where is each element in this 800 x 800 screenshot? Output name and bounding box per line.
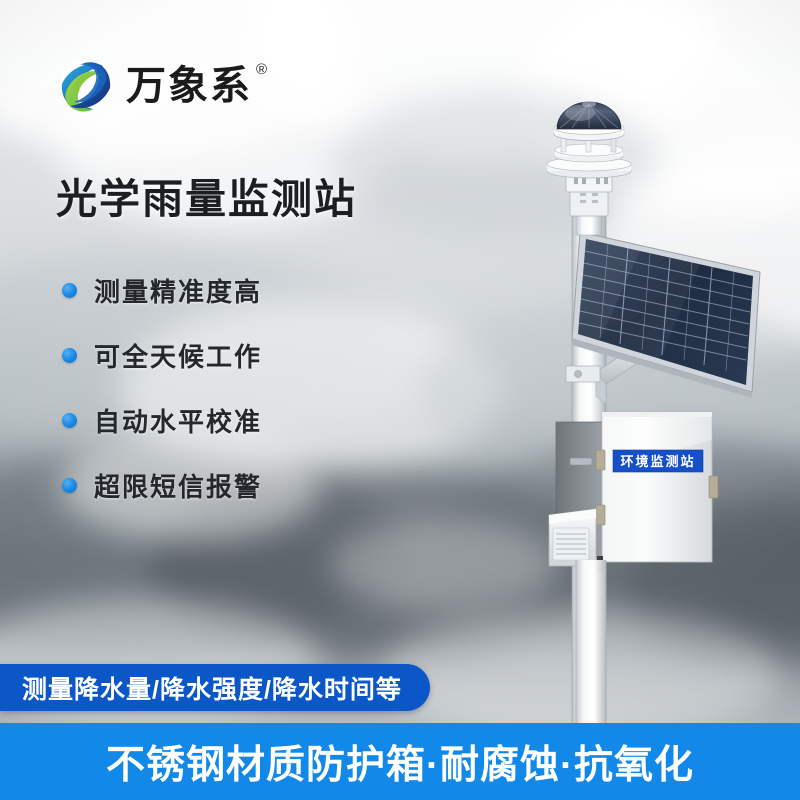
bullet-dot-icon — [62, 478, 77, 493]
brand-name-text: 万象系 — [126, 64, 252, 108]
bullet-dot-icon — [62, 283, 77, 298]
capability-banner-text: 测量降水量/降水强度/降水时间等 — [22, 670, 402, 706]
registered-mark: ® — [256, 62, 269, 77]
bottom-tagline-bar: 不锈钢材质防护箱·耐腐蚀·抗氧化 — [0, 723, 800, 800]
list-item: 可全天候工作 — [62, 323, 262, 388]
list-item: 超限短信报警 — [62, 453, 262, 518]
feature-label: 自动水平校准 — [94, 402, 262, 439]
brand-name: 万象系® — [126, 66, 252, 106]
product-poster: 环境监测站 — [0, 0, 800, 800]
feature-label: 超限短信报警 — [94, 467, 262, 504]
feature-label: 可全天候工作 — [94, 337, 262, 374]
feature-label: 测量精准度高 — [94, 272, 262, 309]
swirl-globe-logo-icon — [58, 58, 114, 114]
feature-list: 测量精准度高 可全天候工作 自动水平校准 超限短信报警 — [62, 258, 262, 518]
list-item: 测量精准度高 — [62, 258, 262, 323]
bullet-dot-icon — [62, 348, 77, 363]
bullet-dot-icon — [62, 413, 77, 428]
list-item: 自动水平校准 — [62, 388, 262, 453]
capability-banner: 测量降水量/降水强度/降水时间等 — [0, 664, 430, 711]
bottom-tagline-text: 不锈钢材质防护箱·耐腐蚀·抗氧化 — [106, 734, 694, 790]
brand-logo: 万象系® — [58, 58, 252, 114]
page-title: 光学雨量监测站 — [56, 165, 357, 225]
